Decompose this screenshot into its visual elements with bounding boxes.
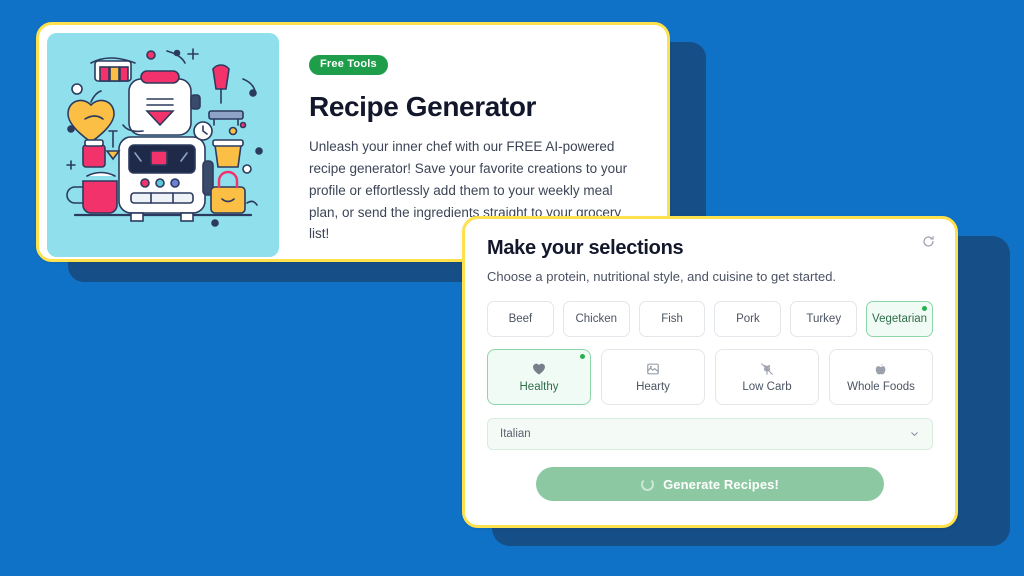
apple-icon <box>874 361 889 376</box>
chevron-down-icon <box>909 429 920 440</box>
selected-indicator-dot <box>922 306 927 311</box>
chip-label: Pork <box>736 313 760 325</box>
selected-indicator-dot <box>580 354 585 359</box>
protein-option-vegetarian[interactable]: Vegetarian <box>866 301 933 337</box>
cuisine-selected-value: Italian <box>500 428 531 440</box>
heart-icon <box>532 361 547 376</box>
panel-title: Make your selections <box>487 237 933 260</box>
make-your-selections-panel: Make your selections Choose a protein, n… <box>462 216 958 528</box>
spinner-icon <box>641 478 654 491</box>
chip-label: Vegetarian <box>872 313 927 325</box>
tile-label: Whole Foods <box>847 381 915 393</box>
nutritional-style-row: Healthy Hearty <box>487 349 933 405</box>
protein-option-chicken[interactable]: Chicken <box>563 301 630 337</box>
tile-label: Hearty <box>636 381 670 393</box>
generate-button-label: Generate Recipes! <box>663 477 779 492</box>
cuisine-select[interactable]: Italian <box>487 418 933 450</box>
chip-label: Fish <box>661 313 683 325</box>
protein-options-row: Beef Chicken Fish Pork Turkey Vegetarian <box>487 301 933 337</box>
chip-label: Turkey <box>806 313 841 325</box>
protein-option-turkey[interactable]: Turkey <box>790 301 857 337</box>
wheat-off-icon <box>760 361 775 376</box>
free-tools-badge: Free Tools <box>309 55 388 75</box>
tile-label: Healthy <box>520 381 559 393</box>
page-title: Recipe Generator <box>309 91 641 123</box>
style-option-hearty[interactable]: Hearty <box>601 349 705 405</box>
protein-option-beef[interactable]: Beef <box>487 301 554 337</box>
protein-option-fish[interactable]: Fish <box>639 301 706 337</box>
panel-subtitle: Choose a protein, nutritional style, and… <box>487 269 933 284</box>
style-option-whole-foods[interactable]: Whole Foods <box>829 349 933 405</box>
refresh-icon[interactable] <box>922 235 935 248</box>
kitchen-appliance-illustration <box>47 33 279 257</box>
style-option-healthy[interactable]: Healthy <box>487 349 591 405</box>
chip-label: Beef <box>509 313 533 325</box>
style-option-low-carb[interactable]: Low Carb <box>715 349 819 405</box>
generate-recipes-button[interactable]: Generate Recipes! <box>536 467 884 501</box>
chip-label: Chicken <box>575 313 617 325</box>
protein-option-pork[interactable]: Pork <box>714 301 781 337</box>
meal-bowl-icon <box>646 361 661 376</box>
tile-label: Low Carb <box>742 381 791 393</box>
